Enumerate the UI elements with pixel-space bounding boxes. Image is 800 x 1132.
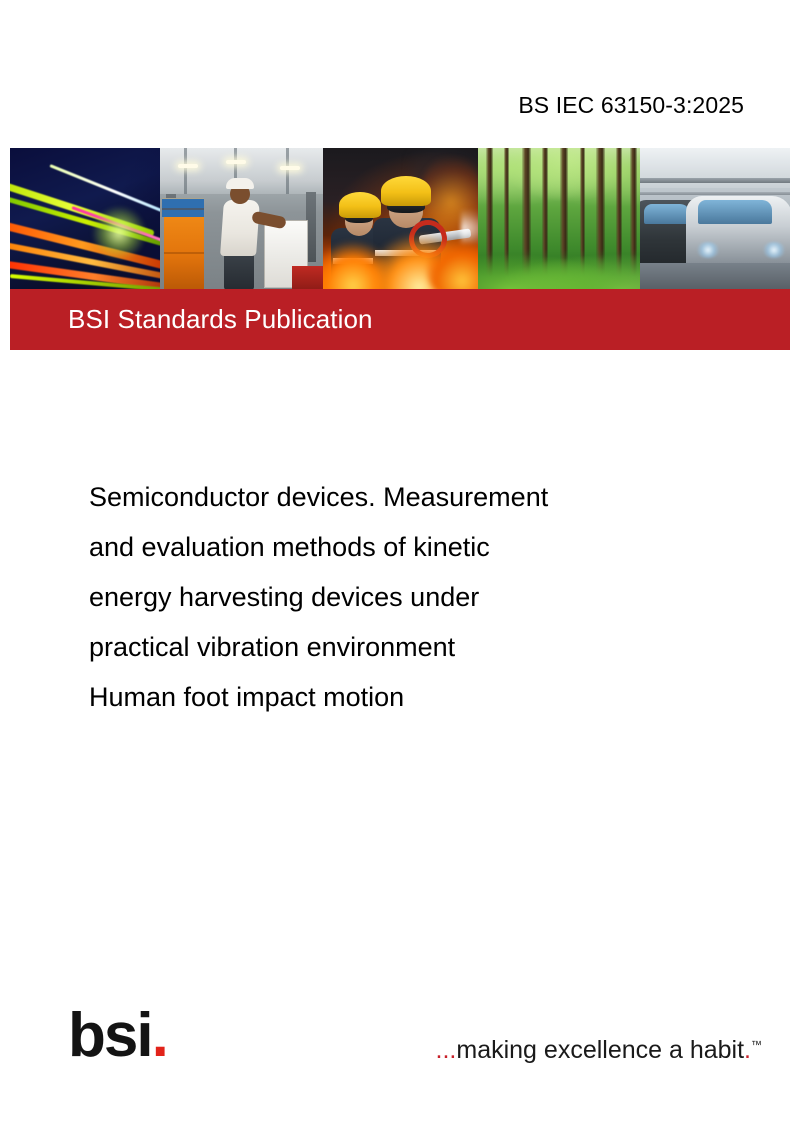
- car-windscreen: [698, 200, 772, 224]
- photo-panel-firefighters: [323, 148, 478, 289]
- trademark-icon: ™: [751, 1040, 762, 1052]
- bsi-logo-dot: .: [152, 1001, 167, 1070]
- photo-panel-traffic-light-trails: [10, 148, 160, 289]
- red-bin: [292, 266, 323, 289]
- worker-cap: [226, 178, 254, 189]
- title-line-1: Semiconductor devices. Measurement: [89, 472, 709, 522]
- worker-torso: [220, 200, 260, 256]
- worker-legs: [224, 252, 254, 289]
- car-headlamp-left: [696, 242, 720, 258]
- headlight-glow: [92, 206, 146, 260]
- tagline-dot: .: [744, 1036, 751, 1064]
- title-line-3: energy harvesting devices under: [89, 572, 709, 622]
- firefighter-helmet: [339, 192, 381, 218]
- overhead-conveyor-rail: [640, 178, 790, 183]
- ceiling-beam: [184, 148, 187, 194]
- firefighter-helmet: [381, 176, 431, 206]
- factory-floor: [640, 263, 790, 289]
- ceiling-light: [280, 166, 300, 170]
- bsi-logo: bsi.: [68, 1005, 167, 1067]
- tagline-ellipsis: ...: [436, 1036, 457, 1064]
- ceiling-light: [178, 164, 198, 168]
- title-line-4: practical vibration environment: [89, 622, 709, 672]
- orange-crate: [164, 212, 204, 289]
- band-label: BSI Standards Publication: [68, 304, 373, 335]
- photo-panel-forest: [478, 148, 640, 289]
- title-line-5: Human foot impact motion: [89, 672, 709, 722]
- overhead-conveyor-rail: [640, 192, 790, 195]
- car-rear-window: [644, 204, 690, 224]
- ceiling-light: [226, 160, 246, 164]
- tagline-text: making excellence a habit: [456, 1036, 744, 1064]
- page-title: Semiconductor devices. Measurement and e…: [89, 472, 709, 722]
- bsi-logo-text: bsi: [68, 1001, 152, 1070]
- photo-panel-warehouse-worker: [160, 148, 323, 289]
- title-line-2: and evaluation methods of kinetic: [89, 522, 709, 572]
- bsi-tagline: ...making excellence a habit.™: [436, 1036, 762, 1065]
- blue-crate: [162, 198, 204, 217]
- photo-panel-car-assembly-line: [640, 148, 790, 289]
- forest-undergrowth: [478, 249, 640, 289]
- standard-number: BS IEC 63150-3:2025: [518, 92, 744, 119]
- car-headlamp-right: [762, 242, 786, 258]
- bsi-standards-publication-band: BSI Standards Publication: [10, 289, 790, 350]
- ceiling-beam: [286, 148, 289, 194]
- cover-photo-strip: [10, 148, 790, 289]
